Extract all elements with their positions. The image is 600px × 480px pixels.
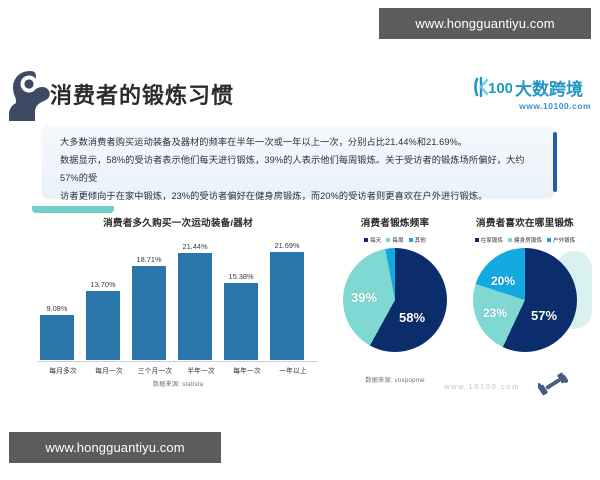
bar-column: 9.08% (40, 304, 74, 360)
dumbbell-icon (538, 371, 568, 397)
legend-item: 健身房锻炼 (508, 236, 542, 244)
summary-accent-bar (553, 132, 557, 192)
bar-value-label: 21.44% (182, 242, 207, 251)
pie1-wrap: 58%39% (343, 248, 447, 352)
legend-label: 户外锻炼 (553, 236, 575, 244)
pie2-legend: 在家锻炼健身房锻炼户外锻炼 (460, 236, 590, 244)
header: 消费者的锻炼习惯 100 大数跨境 www.10100.com (0, 68, 600, 124)
legend-item: 其他 (409, 236, 426, 244)
bar-chart: 消费者多久购买一次运动装备/器材 数据来源: statista 9.08%每月多… (32, 215, 324, 395)
bar-value-label: 15.38% (228, 272, 253, 281)
pie-slice-label: 20% (491, 274, 515, 288)
bar-value-label: 13.70% (90, 280, 115, 289)
legend-label: 每天 (370, 236, 381, 244)
pie-chart-frequency: 消费者锻炼频率 每天每周其他 58%39% 数据来源: voxpopme (330, 215, 460, 395)
legend-item: 户外锻炼 (547, 236, 575, 244)
bar-rect (40, 315, 74, 360)
summary-card: 大多数消费者购买运动装备及器材的频率在半年一次或一年以上一次，分别占比21.44… (42, 126, 554, 198)
summary-line-3: 访者更倾向于在家中锻炼，23%的受访者偏好在健身房锻炼，而20%的受访者则更喜欢… (42, 188, 554, 206)
bar-category-label: 每月多次 (40, 365, 86, 375)
legend-label: 每周 (392, 236, 403, 244)
bar-rect (224, 283, 258, 360)
summary-line-1: 大多数消费者购买运动装备及器材的频率在半年一次或一年以上一次，分别占比21.44… (42, 126, 554, 152)
pie2-graphic: 57%23%20% (473, 248, 577, 352)
pie-slice-label: 23% (483, 306, 507, 320)
pie-slice-label: 57% (531, 308, 557, 323)
legend-swatch (475, 238, 479, 242)
legend-label: 健身房锻炼 (514, 236, 542, 244)
bar-value-label: 9.08% (47, 304, 68, 313)
watermark-bottom: www.hongguantiyu.com (9, 432, 221, 463)
bar-category-label: 半年一次 (178, 365, 224, 375)
brand-url: www.10100.com (474, 101, 592, 111)
bar-category-label: 每月一次 (86, 365, 132, 375)
pie2-wrap: 57%23%20% (473, 248, 577, 352)
summary-line-2: 数据显示，58%的受访者表示他们每天进行锻炼，39%的人表示他们每周锻炼。关于受… (42, 152, 554, 188)
bar-column: 21.69% (270, 241, 304, 360)
pie-chart-location: 消费者喜欢在哪里锻炼 在家锻炼健身房锻炼户外锻炼 57%23%20% (460, 215, 590, 395)
pie1-source: 数据来源: voxpopme (330, 375, 460, 384)
bar-rect (132, 266, 166, 360)
bar-rect (86, 291, 120, 360)
watermark-top: www.hongguantiyu.com (379, 8, 591, 39)
pie-slice-label: 58% (399, 310, 425, 325)
bar-value-label: 21.69% (274, 241, 299, 250)
legend-label: 其他 (415, 236, 426, 244)
bar-category-label: 三个月一次 (132, 365, 178, 375)
legend-item: 每周 (386, 236, 403, 244)
100-logo-icon: 100 (474, 75, 512, 99)
legend-item: 每天 (364, 236, 381, 244)
bar-rect (178, 253, 212, 360)
teal-tab-decoration (32, 206, 114, 213)
bar-rect (270, 252, 304, 360)
bar-column: 21.44% (178, 242, 212, 360)
infographic-canvas: 消费者的锻炼习惯 100 大数跨境 www.10100.com 大多数消费者购买… (0, 0, 600, 480)
legend-swatch (364, 238, 368, 242)
bar-column: 13.70% (86, 280, 120, 360)
bar-chart-title: 消费者多久购买一次运动装备/器材 (32, 215, 324, 229)
svg-text:100: 100 (488, 80, 512, 97)
legend-swatch (508, 238, 512, 242)
bar-category-label: 一年以上 (270, 365, 316, 375)
bar-column: 18.71% (132, 255, 166, 360)
pie-slice-label: 39% (351, 290, 377, 305)
bar-category-label: 每年一次 (224, 365, 270, 375)
pie1-title: 消费者锻炼频率 (330, 215, 460, 229)
brand-logo: 100 大数跨境 www.10100.com (474, 74, 592, 118)
bar-column: 15.38% (224, 272, 258, 360)
pie1-graphic: 58%39% (343, 248, 447, 352)
flexed-bicep-icon (8, 70, 52, 122)
pie1-legend: 每天每周其他 (330, 236, 460, 244)
charts-strip: 消费者多久购买一次运动装备/器材 数据来源: statista 9.08%每月多… (14, 207, 586, 403)
brand-name: 大数跨境 (515, 75, 583, 100)
pie2-title: 消费者喜欢在哪里锻炼 (460, 215, 590, 229)
legend-swatch (547, 238, 551, 242)
legend-label: 在家锻炼 (481, 236, 503, 244)
legend-item: 在家锻炼 (475, 236, 503, 244)
legend-swatch (409, 238, 413, 242)
legend-swatch (386, 238, 390, 242)
page-title: 消费者的锻炼习惯 (50, 78, 234, 110)
bar-value-label: 18.71% (136, 255, 161, 264)
footer-url: www.10100.com (444, 382, 520, 391)
bar-chart-source: 数据来源: statista (32, 379, 324, 388)
